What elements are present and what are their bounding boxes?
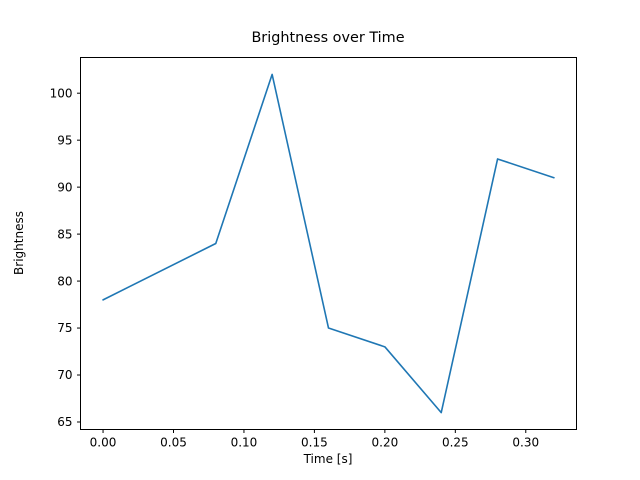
x-axis-ticks: 0.000.050.100.150.200.250.30 xyxy=(90,430,539,450)
y-tick-label: 75 xyxy=(57,321,72,335)
y-tick-label: 65 xyxy=(57,415,72,429)
y-tick-label: 70 xyxy=(57,368,72,382)
y-axis-ticks: 65707580859095100 xyxy=(50,86,81,429)
x-axis-label: Time [s] xyxy=(80,452,576,466)
matplotlib-figure: Brightness over Time Brightness 0.000.05… xyxy=(0,0,640,480)
x-tick-label: 0.00 xyxy=(90,436,117,450)
plot-area: 0.000.050.100.150.200.250.30 65707580859… xyxy=(0,0,640,480)
axes-spines xyxy=(81,58,577,430)
x-tick-label: 0.20 xyxy=(372,436,399,450)
y-tick-label: 90 xyxy=(57,180,72,194)
data-series-group xyxy=(103,74,554,412)
y-tick-label: 95 xyxy=(57,133,72,147)
y-tick-label: 100 xyxy=(50,86,73,100)
x-tick-label: 0.25 xyxy=(442,436,469,450)
x-tick-label: 0.05 xyxy=(160,436,187,450)
y-tick-label: 85 xyxy=(57,227,72,241)
x-tick-label: 0.10 xyxy=(231,436,258,450)
y-tick-label: 80 xyxy=(57,274,72,288)
x-tick-label: 0.30 xyxy=(512,436,539,450)
x-tick-label: 0.15 xyxy=(301,436,328,450)
data-line-brightness xyxy=(103,74,554,412)
